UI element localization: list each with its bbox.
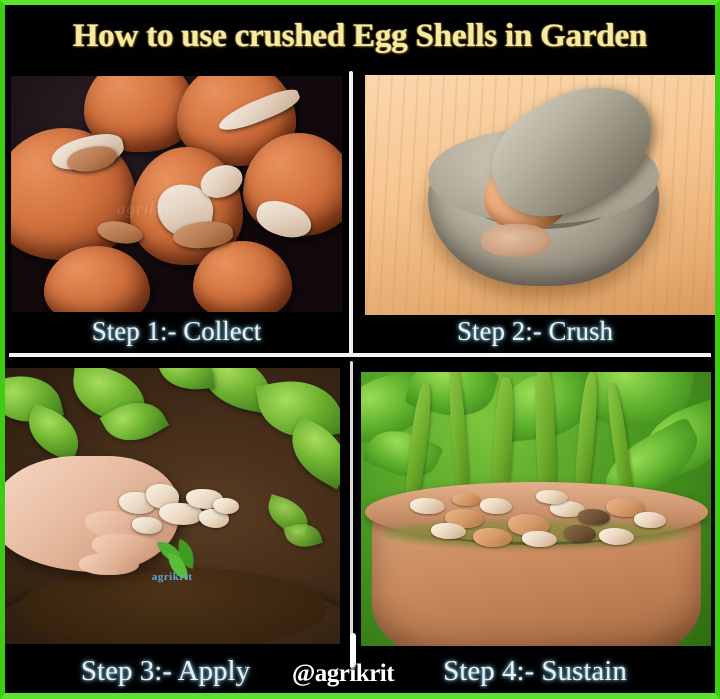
step-4-caption-text: Step 4:- Sustain	[443, 655, 627, 688]
step-panel-1: agrikrit Step 1:- Collect	[5, 67, 348, 353]
potted-plant-mulch-image	[361, 372, 711, 646]
step-4-caption: Step 4:- Sustain	[355, 643, 715, 699]
step-2-caption: Step 2:- Crush	[355, 309, 715, 353]
eggshell-garden-infographic: How to use crushed Egg Shells in Garden	[0, 0, 720, 699]
step-2-caption-text: Step 2:- Crush	[457, 316, 613, 347]
title-bar: How to use crushed Egg Shells in Garden	[5, 5, 715, 67]
step-4-photo	[361, 372, 711, 646]
horizontal-divider	[9, 353, 711, 357]
logo-watermark-text: agrikrit	[152, 571, 193, 583]
step-1-photo: agrikrit	[11, 76, 342, 312]
step-panel-2: Step 2:- Crush	[355, 67, 715, 353]
step-panel-4: Step 4:- Sustain	[355, 358, 715, 699]
step-1-inline-watermark: agrikrit	[117, 199, 177, 219]
step-2-photo	[365, 75, 715, 315]
step-3-photo: agrikrit	[5, 368, 340, 644]
step-3-caption-text: Step 3:- Apply	[81, 655, 250, 688]
eggshells-image: agrikrit	[11, 76, 342, 312]
step-1-caption: Step 1:- Collect	[5, 309, 348, 353]
step-panel-3: agrikrit Step 3:- Apply	[5, 358, 348, 699]
brand-watermark: @agrikrit	[292, 660, 394, 688]
steps-grid: agrikrit Step 1:- Collect Step 2:- Crush	[5, 67, 715, 699]
agrikrit-leaf-logo-watermark: agrikrit	[156, 539, 208, 585]
mortar-pestle-image	[365, 75, 715, 315]
crushed-shell-crumbs	[481, 224, 551, 258]
hand-applying-shells-image: agrikrit	[5, 368, 340, 644]
vertical-divider-top	[349, 71, 353, 355]
step-1-caption-text: Step 1:- Collect	[92, 316, 261, 347]
vertical-divider-bottom	[350, 361, 353, 637]
page-title: How to use crushed Egg Shells in Garden	[73, 18, 647, 55]
